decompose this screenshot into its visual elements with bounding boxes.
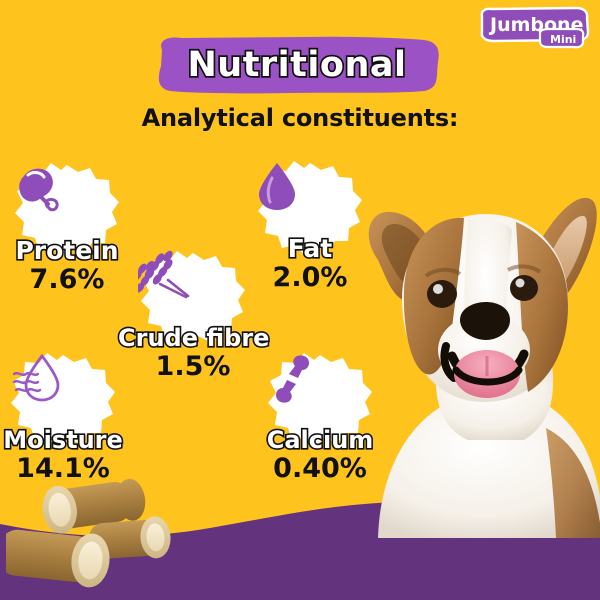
- nutrient-badge-calcium: Calcium 0.40%: [245, 352, 395, 484]
- nutritional-infographic: Jumbone Mini Nutritional Analytical cons…: [0, 0, 600, 600]
- jumbone-logo: Jumbone Mini: [478, 6, 590, 50]
- nutrient-value: 0.40%: [245, 455, 395, 483]
- nutrient-label: Moisture: [0, 428, 138, 453]
- subtitle: Analytical constituents:: [0, 104, 600, 132]
- nutrient-label: Protein: [0, 238, 142, 264]
- nutrient-label: Crude fibre: [118, 326, 268, 351]
- dog-chew-bone-treats: [6, 474, 196, 594]
- nutrient-badge-moisture: Moisture 14.1%: [0, 352, 138, 484]
- nutrient-label: Fat: [235, 236, 385, 262]
- logo-sub-text: Mini: [550, 33, 576, 46]
- nutrient-label: Calcium: [245, 428, 395, 453]
- page-title: Nutritional: [152, 36, 442, 94]
- nutrient-value: 14.1%: [0, 455, 138, 483]
